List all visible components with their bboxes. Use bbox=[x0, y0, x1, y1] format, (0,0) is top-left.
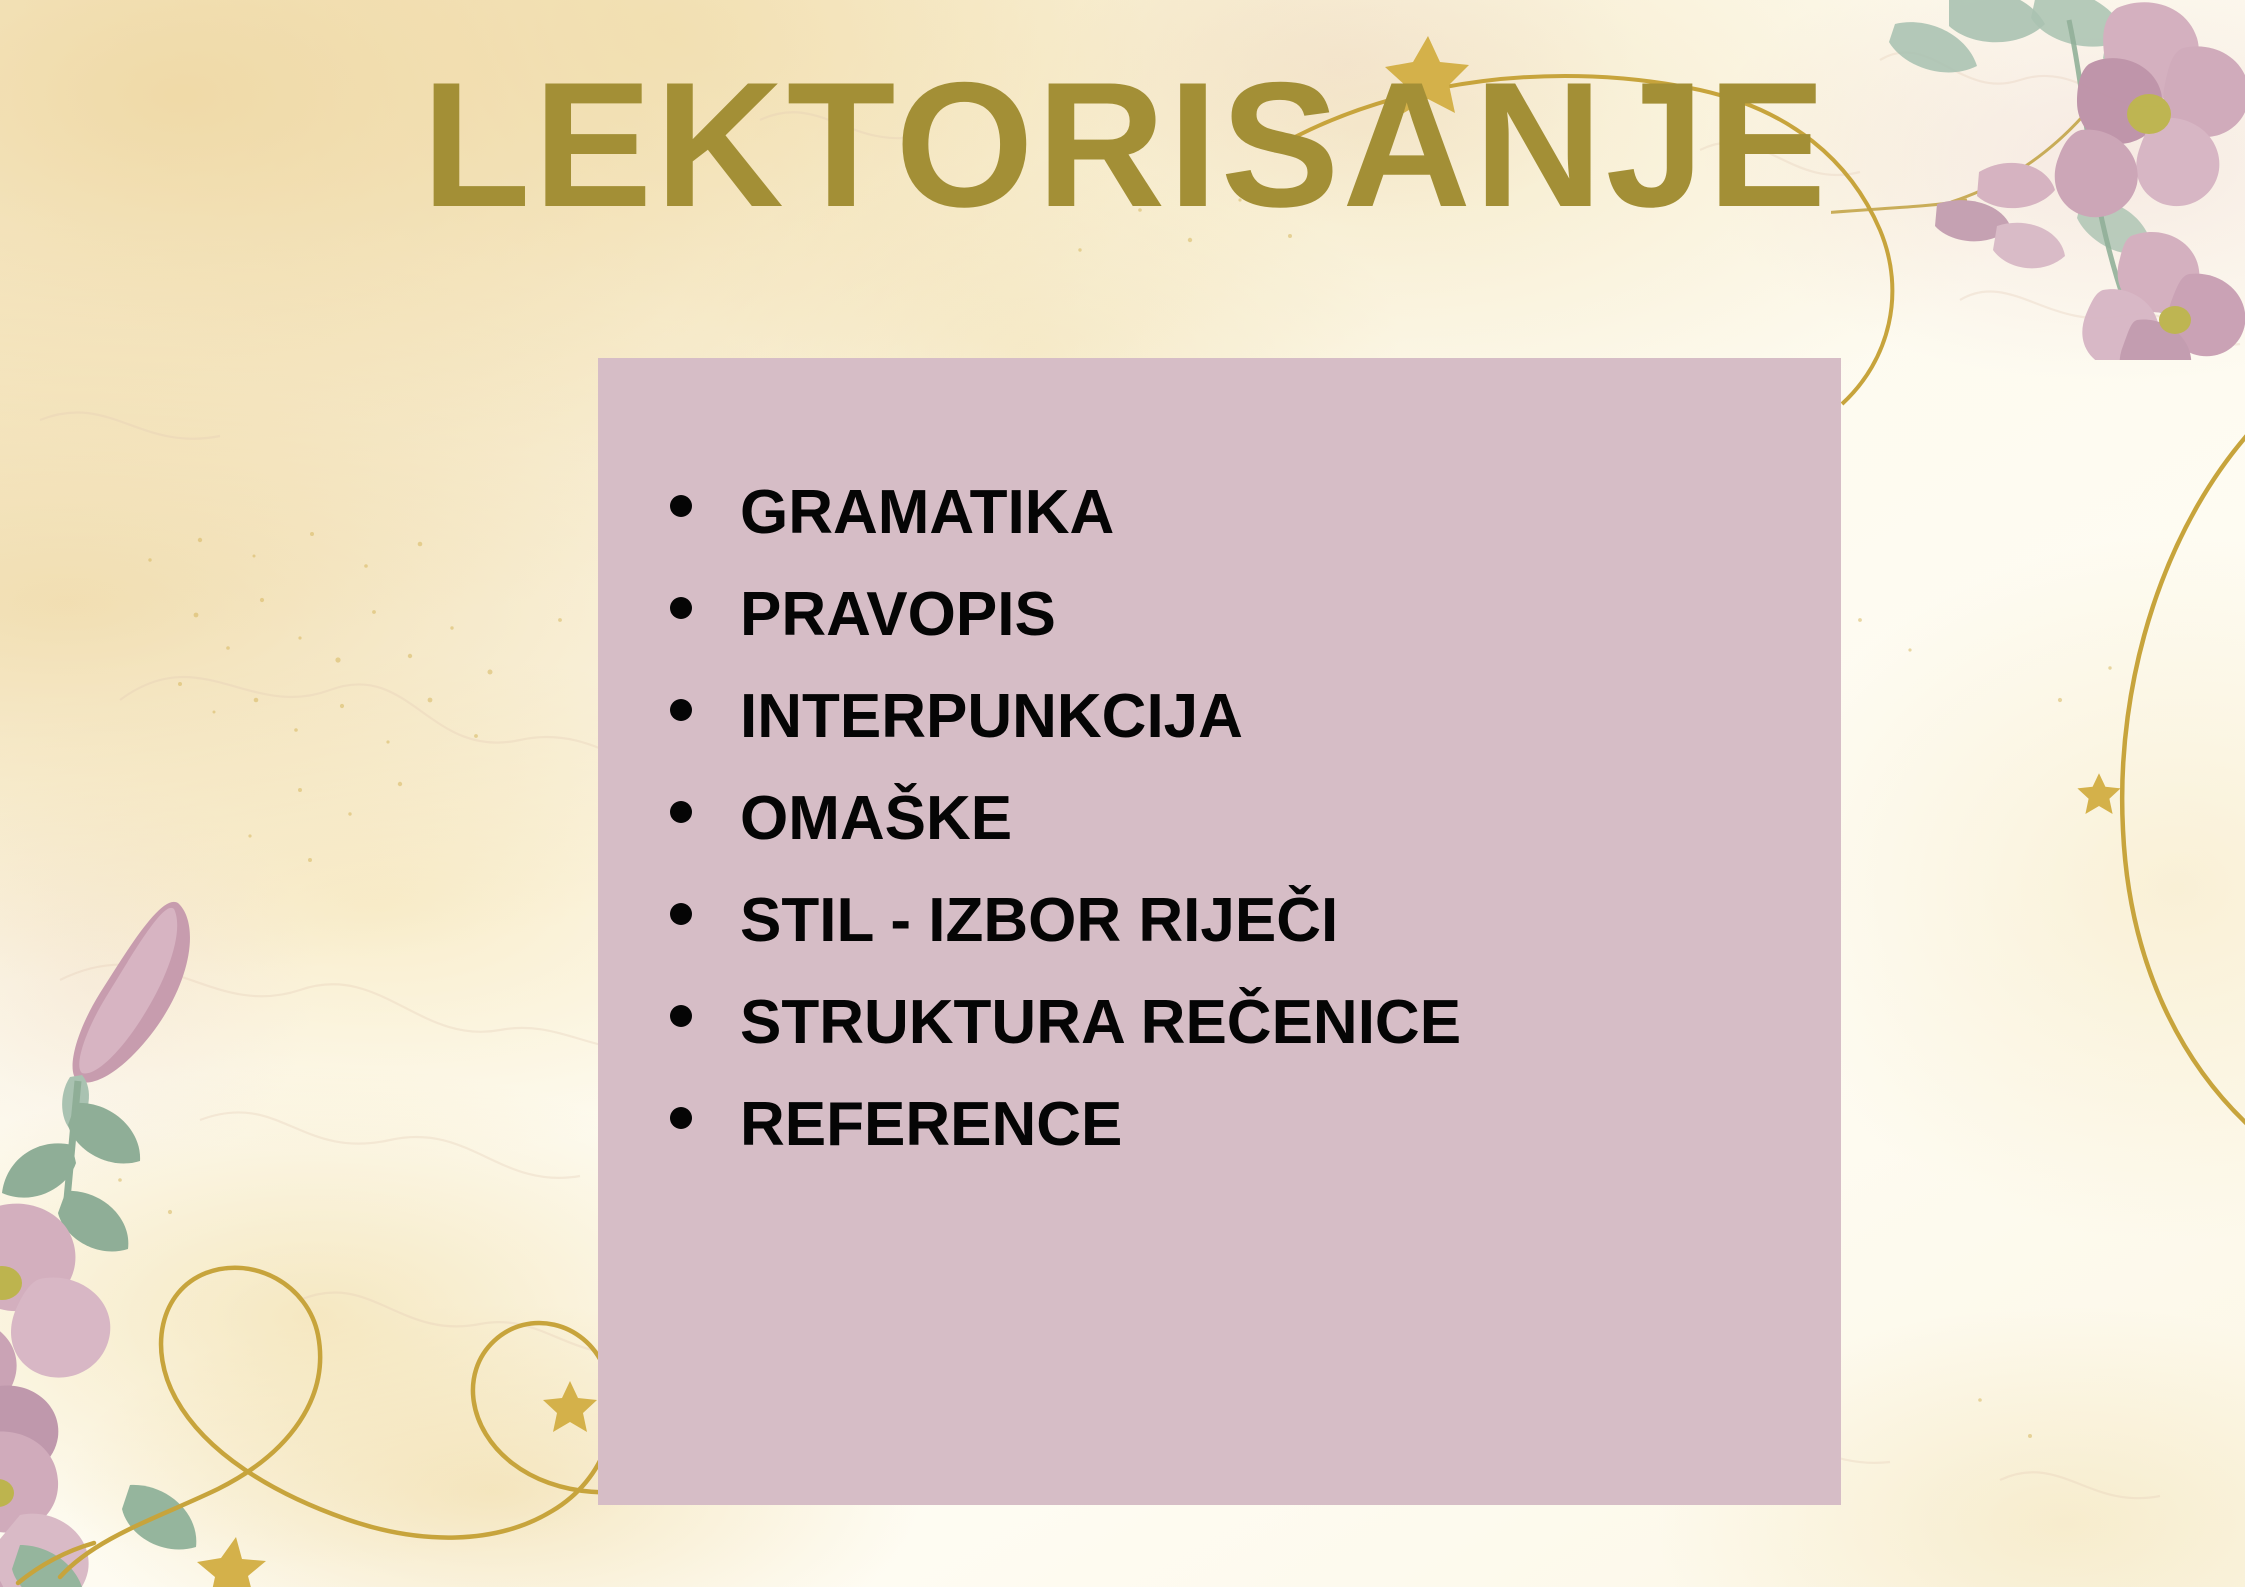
list-item-label: GRAMATIKA bbox=[740, 480, 1114, 547]
topics-list: GRAMATIKAPRAVOPISINTERPUNKCIJAOMAŠKESTIL… bbox=[670, 480, 1790, 1194]
list-item-label: OMAŠKE bbox=[740, 786, 1012, 853]
list-item-label: INTERPUNKCIJA bbox=[740, 684, 1243, 751]
list-item: INTERPUNKCIJA bbox=[670, 684, 1790, 751]
gold-arc-right bbox=[1965, 400, 2245, 1160]
bullet-dot-icon bbox=[670, 1005, 692, 1027]
list-item: OMAŠKE bbox=[670, 786, 1790, 853]
bullet-dot-icon bbox=[670, 597, 692, 619]
list-item-label: REFERENCE bbox=[740, 1092, 1122, 1159]
slide-canvas: LEKTORISANJE GRAMATIKAPRAVOPISINTERPUNKC… bbox=[0, 0, 2245, 1587]
page-title: LEKTORISANJE bbox=[0, 52, 2245, 239]
gold-star-bottom bbox=[540, 1377, 600, 1437]
bullet-dot-icon bbox=[670, 495, 692, 517]
list-item: REFERENCE bbox=[670, 1092, 1790, 1159]
list-item-label: STRUKTURA REČENICE bbox=[740, 990, 1461, 1057]
list-item: STIL - IZBOR RIJEČI bbox=[670, 888, 1790, 955]
bullet-dot-icon bbox=[670, 699, 692, 721]
list-item: STRUKTURA REČENICE bbox=[670, 990, 1790, 1057]
list-item-label: PRAVOPIS bbox=[740, 582, 1056, 649]
list-item-label: STIL - IZBOR RIJEČI bbox=[740, 888, 1338, 955]
magnolia-flowers-bottom-left bbox=[0, 845, 360, 1587]
bullet-dot-icon bbox=[670, 903, 692, 925]
list-item: PRAVOPIS bbox=[670, 582, 1790, 649]
bullet-dot-icon bbox=[670, 1107, 692, 1129]
bullet-dot-icon bbox=[670, 801, 692, 823]
list-item: GRAMATIKA bbox=[670, 480, 1790, 547]
gold-star-right bbox=[2075, 770, 2123, 818]
